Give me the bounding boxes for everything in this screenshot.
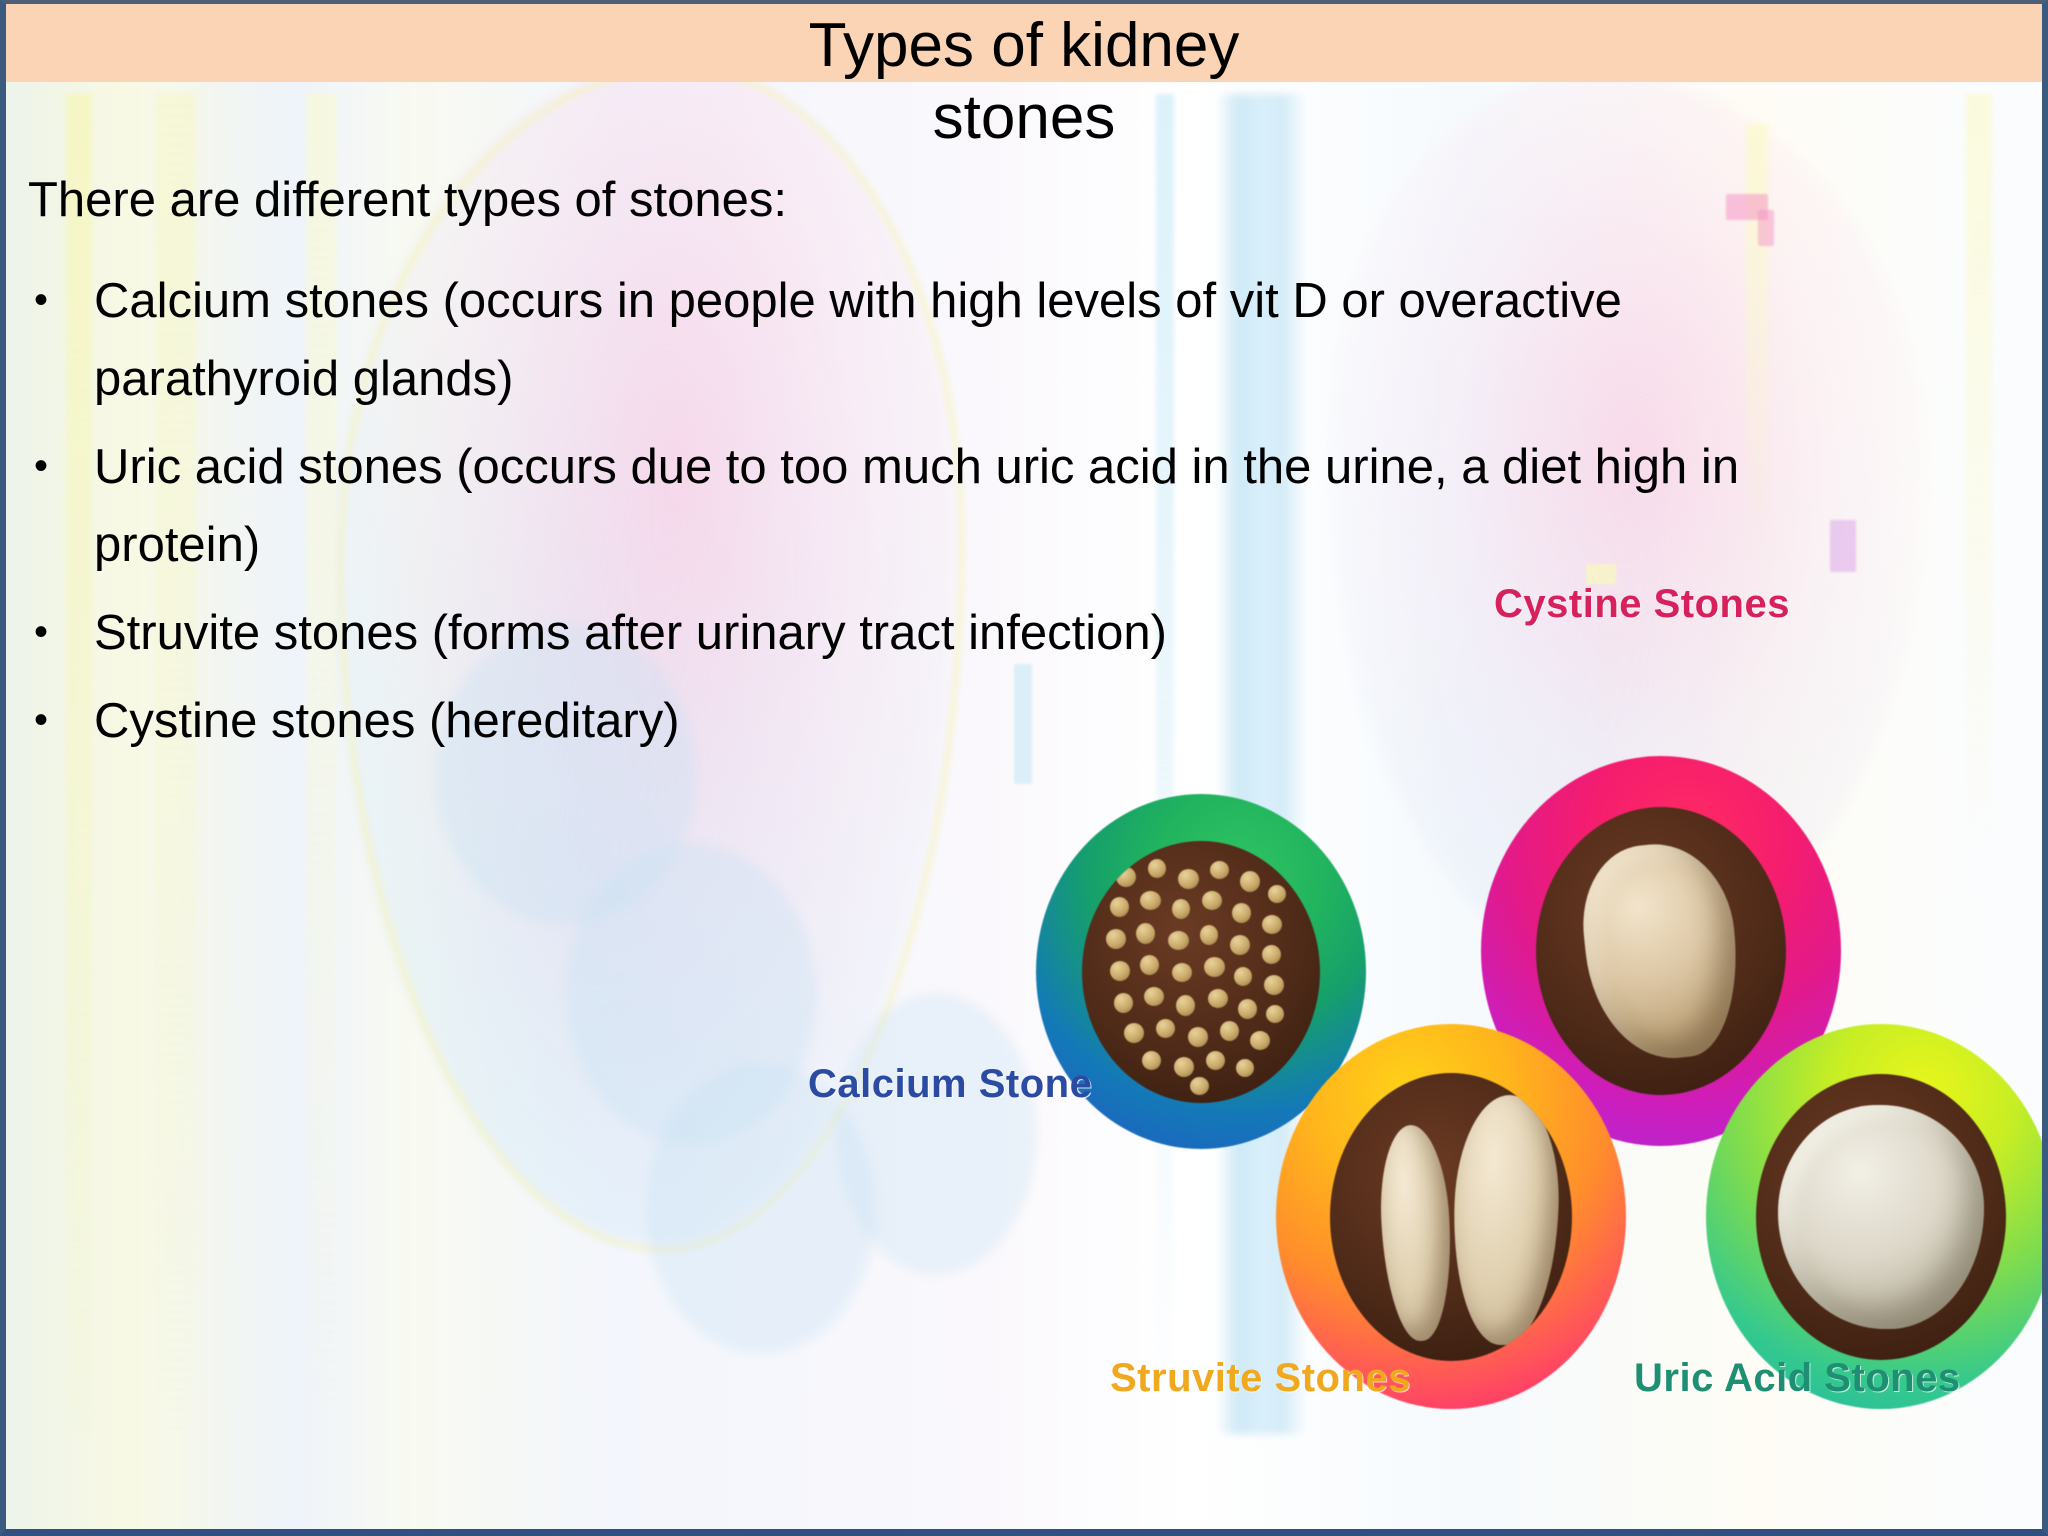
title-banner <box>6 4 2042 82</box>
kidney-stone-figure: Calcium Stone Cystine Stones Struvite St… <box>1026 704 2048 1424</box>
stone-label-uric-acid: Uric Acid Stones <box>1634 1356 1961 1401</box>
cystine-crystal <box>1575 836 1747 1066</box>
stone-image-struvite <box>1276 1024 1626 1409</box>
list-item: • Struvite stones (forms after urinary t… <box>28 594 1928 672</box>
bullet-text-uric-acid: Uric acid stones (occurs due to too much… <box>94 428 1874 584</box>
kidney-lobe <box>646 1064 876 1354</box>
bullet-marker-icon: • <box>28 594 94 670</box>
intro-text: There are different types of stones: <box>28 172 1928 228</box>
stone-image-uric-acid <box>1706 1024 2048 1409</box>
stone-label-calcium: Calcium Stone <box>808 1062 1092 1107</box>
slide-canvas: Types of kidney stones There are differe… <box>0 0 2048 1536</box>
kidney-lobe <box>566 844 816 1144</box>
stone-core-cystine <box>1536 807 1786 1095</box>
stone-core-calcium <box>1082 841 1320 1103</box>
content-body: There are different types of stones: • C… <box>28 172 1928 770</box>
list-item: • Uric acid stones (occurs due to too mu… <box>28 428 1928 584</box>
stone-core-struvite <box>1330 1073 1572 1361</box>
stone-label-struvite: Struvite Stones <box>1110 1356 1411 1401</box>
bullet-marker-icon: • <box>28 428 94 504</box>
struvite-stone-small <box>1376 1123 1455 1342</box>
uric-acid-stone <box>1778 1105 1984 1329</box>
list-item: • Calcium stones (occurs in people with … <box>28 262 1928 418</box>
stone-core-uric-acid <box>1756 1074 2006 1360</box>
list-item: • Cystine stones (hereditary) <box>28 682 1928 760</box>
bullet-marker-icon: • <box>28 262 94 338</box>
bullet-text-calcium: Calcium stones (occurs in people with hi… <box>94 262 1874 418</box>
bullet-text-struvite: Struvite stones (forms after urinary tra… <box>94 594 1874 672</box>
bullet-marker-icon: • <box>28 682 94 758</box>
kidney-lobe <box>836 994 1036 1274</box>
bullet-text-cystine: Cystine stones (hereditary) <box>94 682 1874 760</box>
struvite-stone-large <box>1450 1093 1563 1346</box>
